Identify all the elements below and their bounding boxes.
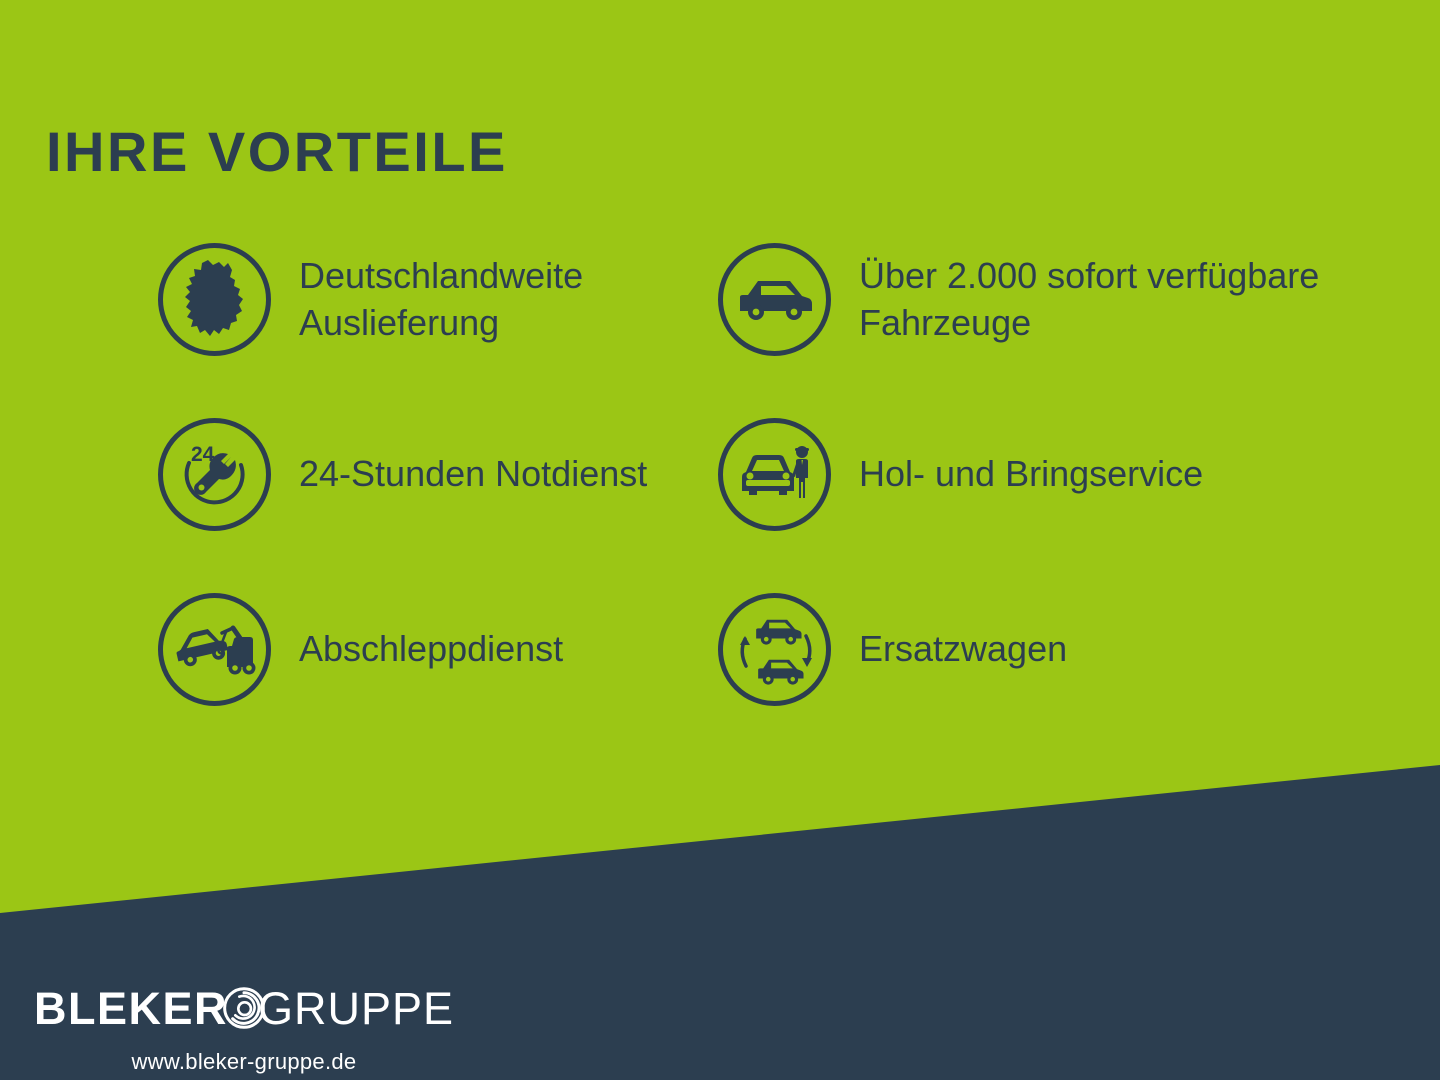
benefit-label: Deutschlandweite Auslieferung	[299, 253, 718, 345]
logo-primary-text: BLEKER	[34, 986, 228, 1031]
two-cars-exchange-icon	[718, 593, 831, 706]
page-title: IHRE VORTEILE	[46, 124, 508, 180]
tow-truck-icon	[158, 593, 271, 706]
benefit-item-abschleppdienst: Abschleppdienst	[158, 562, 718, 737]
logo-secondary-text: GRUPPE	[258, 986, 454, 1031]
germany-map-icon	[158, 243, 271, 356]
benefit-label: Abschleppdienst	[299, 626, 563, 672]
logo-wordmark: BLEKER GRUPPE	[34, 975, 454, 1041]
benefit-item-verfuegbare-fahrzeuge: Über 2.000 sofort verfügbare Fahrzeuge	[718, 212, 1338, 387]
footer-logo-block: BLEKER GRUPPE www.bleker-gruppe.de	[34, 975, 454, 1075]
slide-ihre-vorteile: IHRE VORTEILE Deutschlandweite Ausliefer…	[0, 0, 1440, 1080]
benefit-item-24-stunden-notdienst: 24 24-Stunden Notdienst	[158, 387, 718, 562]
benefit-item-ersatzwagen: Ersatzwagen	[718, 562, 1338, 737]
benefit-label: Über 2.000 sofort verfügbare Fahrzeuge	[859, 253, 1338, 345]
benefit-item-deutschlandweite-auslieferung: Deutschlandweite Auslieferung	[158, 212, 718, 387]
benefit-label: Hol- und Bringservice	[859, 451, 1203, 497]
benefits-grid: Deutschlandweite Auslieferung Über 2.000…	[0, 212, 1440, 737]
benefit-label: 24-Stunden Notdienst	[299, 451, 647, 497]
footer-website-url: www.bleker-gruppe.de	[34, 1049, 454, 1075]
benefit-label: Ersatzwagen	[859, 626, 1067, 672]
car-with-person-icon	[718, 418, 831, 531]
car-side-icon	[718, 243, 831, 356]
benefit-item-hol-und-bringservice: Hol- und Bringservice	[718, 387, 1338, 562]
24-hour-wrench-icon: 24	[158, 418, 271, 531]
